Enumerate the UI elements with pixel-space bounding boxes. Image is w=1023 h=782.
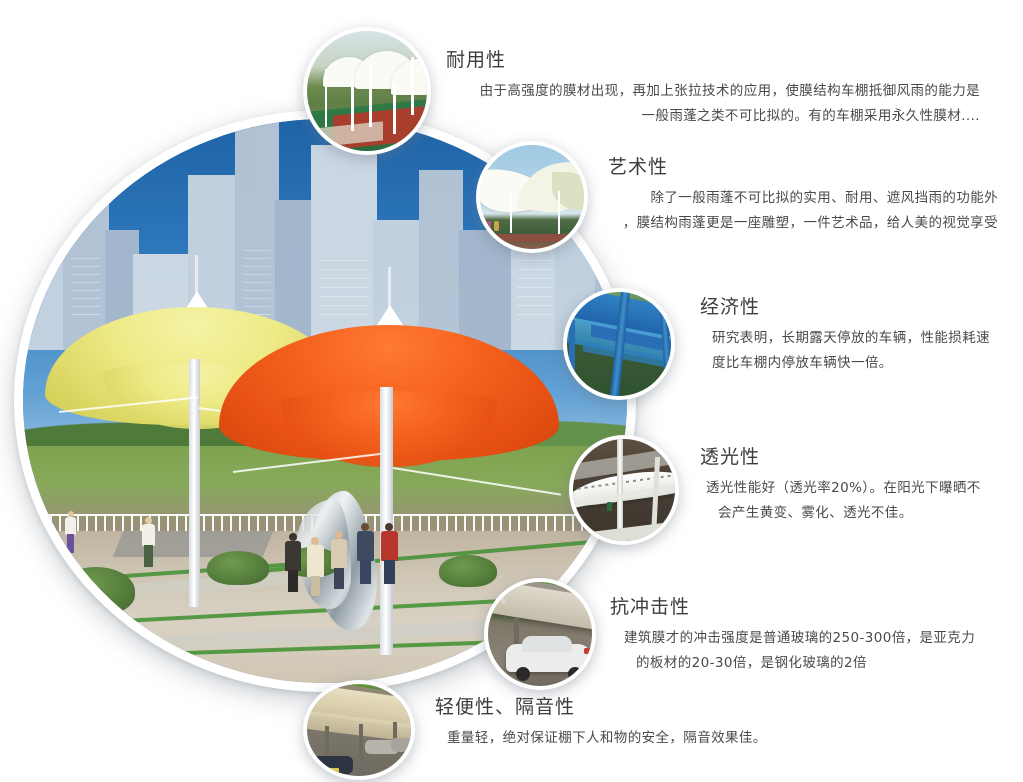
feature-line: 研究表明，长期露天停放的车辆，性能损耗速 [700,326,1000,351]
feature-text-translucency: 透光性 透光性能好（透光率20%）。在阳光下曝晒不 会产生黄变、雾化、透光不佳。 [700,442,1010,526]
feature-text-impact-resistance: 抗冲击性 建筑膜才的冲击强度是普通玻璃的250-300倍，是亚克力 的板材的20… [610,592,1000,676]
feature-text-lightweight-soundproof: 轻便性、隔音性 重量轻，绝对保证棚下人和物的安全，隔音效果佳。 [435,692,835,751]
feature-thumb-impact-resistance[interactable] [484,578,596,690]
feature-thumb-lightweight-soundproof[interactable] [303,680,415,780]
feature-title: 艺术性 [608,152,998,179]
feature-text-durability: 耐用性 由于高强度的膜材出现，再加上张拉技术的应用，使膜结构车棚抵御风雨的能力是… [446,45,980,129]
feature-line: 度比车棚内停放车辆快一倍。 [700,351,1000,376]
feature-thumb-durability[interactable] [303,27,431,155]
feature-title: 抗冲击性 [610,592,1000,619]
feature-line: 重量轻，绝对保证棚下人和物的安全，隔音效果佳。 [435,726,835,751]
feature-text-artistry: 艺术性 除了一般雨蓬不可比拟的实用、耐用、遮风挡雨的功能外 ，膜结构雨蓬更是一座… [608,152,998,236]
feature-line: 透光性能好（透光率20%）。在阳光下曝晒不 [700,476,1010,501]
feature-thumb-translucency[interactable] [569,435,679,545]
feature-text-economy: 经济性 研究表明，长期露天停放的车辆，性能损耗速 度比车棚内停放车辆快一倍。 [700,292,1000,376]
infographic-page: 耐用性 由于高强度的膜材出现，再加上张拉技术的应用，使膜结构车棚抵御风雨的能力是… [0,0,1023,782]
feature-line: ，膜结构雨蓬更是一座雕塑，一件艺术品，给人美的视觉享受 [608,211,998,236]
feature-title: 耐用性 [446,45,980,72]
feature-line: 除了一般雨蓬不可比拟的实用、耐用、遮风挡雨的功能外 [608,186,998,211]
feature-line: 建筑膜才的冲击强度是普通玻璃的250-300倍，是亚克力 [610,626,1000,651]
feature-line: 的板材的20-30倍，是钢化玻璃的2倍 [610,651,1000,676]
feature-title: 经济性 [700,292,1000,319]
feature-title: 轻便性、隔音性 [435,692,835,719]
feature-line: 会产生黄变、雾化、透光不佳。 [700,501,1010,526]
feature-thumb-economy[interactable] [563,288,675,400]
feature-line: 由于高强度的膜材出现，再加上张拉技术的应用，使膜结构车棚抵御风雨的能力是 [446,79,980,104]
feature-title: 透光性 [700,442,1010,469]
feature-thumb-artistry[interactable] [476,141,588,253]
feature-line: 一般雨蓬之类不可比拟的。有的车棚采用永久性膜材.... [446,104,980,129]
